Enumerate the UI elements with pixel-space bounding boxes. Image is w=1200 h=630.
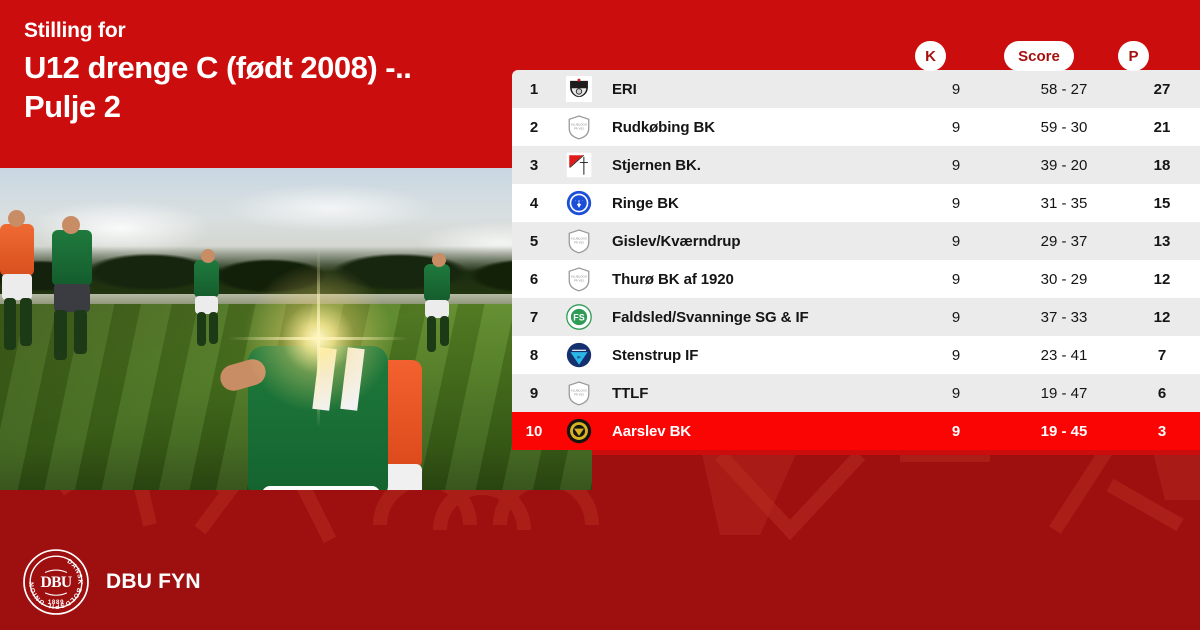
- row-rank: 5: [512, 233, 556, 250]
- row-rank: 9: [512, 385, 556, 402]
- svg-text:IF: IF: [577, 354, 581, 359]
- row-club-name: Thurø BK af 1920: [602, 271, 908, 288]
- svg-text:PÅ VEJ: PÅ VEJ: [574, 125, 585, 130]
- table-row[interactable]: 7FSFaldsled/Svanninge SG & IF937 - 3312: [512, 298, 1200, 336]
- aarslev-crest-icon: [556, 418, 602, 444]
- placeholder-shield-icon: KLUBLOGOPÅ VEJ: [556, 266, 602, 292]
- row-played: 9: [908, 309, 1004, 326]
- table-row[interactable]: 3Stjernen BK.939 - 2018: [512, 146, 1200, 184]
- svg-text:PÅ VEJ: PÅ VEJ: [574, 391, 585, 396]
- column-header-played: K: [915, 41, 946, 71]
- standings-graphic: Stilling for U12 drenge C (født 2008) -.…: [0, 0, 1200, 630]
- table-row[interactable]: 8IFStenstrup IF923 - 417: [512, 336, 1200, 374]
- kicker-text: Stilling for: [24, 18, 524, 43]
- footer-label: DBU FYN: [106, 570, 201, 594]
- svg-text:1889: 1889: [48, 599, 64, 606]
- svg-text:PÅ VEJ: PÅ VEJ: [574, 277, 585, 282]
- row-rank: 3: [512, 157, 556, 174]
- stjernen-crest-icon: [556, 152, 602, 178]
- background-player: [420, 264, 456, 352]
- row-played: 9: [908, 119, 1004, 136]
- row-score: 19 - 45: [1004, 423, 1124, 440]
- table-row[interactable]: 2KLUBLOGOPÅ VEJRudkøbing BK959 - 3021: [512, 108, 1200, 146]
- svg-text:PÅ VEJ: PÅ VEJ: [574, 239, 585, 244]
- row-club-name: Faldsled/Svanninge SG & IF: [602, 309, 908, 326]
- row-score: 19 - 47: [1004, 385, 1124, 402]
- row-score: 59 - 30: [1004, 119, 1124, 136]
- row-points: 15: [1124, 195, 1200, 212]
- row-played: 9: [908, 423, 1004, 440]
- row-club-name: Aarslev BK: [602, 423, 908, 440]
- row-played: 9: [908, 271, 1004, 288]
- row-points: 27: [1124, 81, 1200, 98]
- row-points: 6: [1124, 385, 1200, 402]
- row-points: 12: [1124, 271, 1200, 288]
- row-club-name: Ringe BK: [602, 195, 908, 212]
- row-played: 9: [908, 233, 1004, 250]
- row-rank: 1: [512, 81, 556, 98]
- table-row[interactable]: 5KLUBLOGOPÅ VEJGislev/Kværndrup929 - 371…: [512, 222, 1200, 260]
- headline-block: Stilling for U12 drenge C (født 2008) -.…: [24, 18, 524, 126]
- row-score: 29 - 37: [1004, 233, 1124, 250]
- row-club-name: TTLF: [602, 385, 908, 402]
- row-points: 13: [1124, 233, 1200, 250]
- row-club-name: Rudkøbing BK: [602, 119, 908, 136]
- eri-crest-icon: [556, 76, 602, 102]
- background-player: [0, 224, 40, 354]
- row-points: 7: [1124, 347, 1200, 364]
- column-header-points: P: [1118, 41, 1149, 71]
- row-played: 9: [908, 385, 1004, 402]
- row-score: 23 - 41: [1004, 347, 1124, 364]
- placeholder-shield-icon: KLUBLOGOPÅ VEJ: [556, 380, 602, 406]
- row-score: 39 - 20: [1004, 157, 1124, 174]
- page-title: U12 drenge C (født 2008) -.. Pulje 2: [24, 49, 524, 126]
- hero-photo: [0, 168, 592, 490]
- background-player: [48, 230, 100, 360]
- footer: DANSK BOLDSPIL UNION DBU 1889 DBU FYN: [0, 490, 1200, 630]
- row-score: 37 - 33: [1004, 309, 1124, 326]
- row-club-name: Gislev/Kværndrup: [602, 233, 908, 250]
- row-rank: 6: [512, 271, 556, 288]
- row-played: 9: [908, 347, 1004, 364]
- row-club-name: Stjernen BK.: [602, 157, 908, 174]
- row-club-name: Stenstrup IF: [602, 347, 908, 364]
- placeholder-shield-icon: KLUBLOGOPÅ VEJ: [556, 114, 602, 140]
- row-points: 3: [1124, 423, 1200, 440]
- column-header-score: Score: [1004, 41, 1074, 71]
- row-played: 9: [908, 195, 1004, 212]
- table-row[interactable]: 9KLUBLOGOPÅ VEJTTLF919 - 476: [512, 374, 1200, 412]
- ringe-crest-icon: [556, 190, 602, 216]
- background-player: [190, 260, 224, 346]
- row-rank: 2: [512, 119, 556, 136]
- dbu-logo-icon: DANSK BOLDSPIL UNION DBU 1889: [22, 548, 90, 616]
- row-rank: 8: [512, 347, 556, 364]
- row-played: 9: [908, 157, 1004, 174]
- row-points: 21: [1124, 119, 1200, 136]
- row-rank: 10: [512, 423, 556, 440]
- svg-text:FS: FS: [573, 313, 584, 323]
- table-row[interactable]: 4Ringe BK931 - 3515: [512, 184, 1200, 222]
- row-played: 9: [908, 81, 1004, 98]
- svg-text:DBU: DBU: [41, 574, 72, 591]
- row-points: 18: [1124, 157, 1200, 174]
- stenstrup-crest-icon: IF: [556, 342, 602, 368]
- row-club-name: ERI: [602, 81, 908, 98]
- placeholder-shield-icon: KLUBLOGOPÅ VEJ: [556, 228, 602, 254]
- row-score: 31 - 35: [1004, 195, 1124, 212]
- table-row[interactable]: 6KLUBLOGOPÅ VEJThurø BK af 1920930 - 291…: [512, 260, 1200, 298]
- row-points: 12: [1124, 309, 1200, 326]
- faldsled-crest-icon: FS: [556, 304, 602, 330]
- row-score: 58 - 27: [1004, 81, 1124, 98]
- row-score: 30 - 29: [1004, 271, 1124, 288]
- row-rank: 4: [512, 195, 556, 212]
- table-row[interactable]: 10Aarslev BK919 - 453: [512, 412, 1200, 450]
- table-row[interactable]: 1ERI958 - 2727: [512, 70, 1200, 108]
- row-rank: 7: [512, 309, 556, 326]
- sun-flare: [233, 253, 403, 423]
- standings-table: 1ERI958 - 27272KLUBLOGOPÅ VEJRudkøbing B…: [512, 70, 1200, 450]
